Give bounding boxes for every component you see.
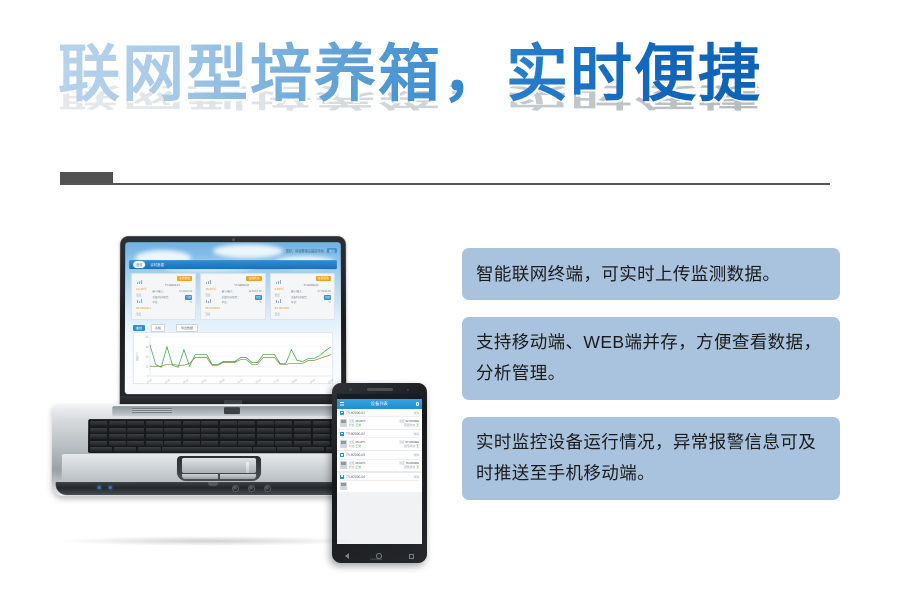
key-row (90, 428, 348, 433)
svg-text:40: 40 (146, 335, 149, 339)
key-row (90, 434, 348, 439)
logout-button[interactable]: 退出 (327, 248, 337, 253)
value-grid: 温度 25.10℃ 湿度 57.00%RH 状态 正常 报警状态 无 (349, 440, 419, 448)
hum-unit: %RH (213, 306, 220, 310)
svg-text:14:00: 14:00 (219, 378, 226, 384)
menu-icon[interactable] (340, 402, 344, 406)
temperature-icon (137, 280, 142, 284)
device-meta: TY-N2000-02 最小/最大：10.00/27.00 采集时间/报警：详情… (222, 283, 262, 306)
list-item[interactable]: TY-H2000-01 详情 温度 26.00℃ 湿度 52.00%RH 状态 … (337, 409, 422, 429)
feature-box-1: 智能联网终端，可实时上传监测数据。 (462, 248, 840, 300)
hum-unit: %RH (144, 306, 151, 310)
hum-number: 65.00 (205, 306, 213, 310)
title-block: 联网型培养箱，实时便捷 联网型培养箱，实时便捷 (0, 38, 900, 158)
device-meta: TY-N2000-01 最小/最大：10.00/20.00 采集时间/报警：详情… (152, 283, 192, 306)
status-badge: 在线状态 (316, 276, 331, 281)
svg-text:10:00: 10:00 (146, 378, 153, 384)
vent-grille (132, 408, 172, 413)
list-item[interactable]: TY-H2000-02 详情 温度 25.10℃ 湿度 57.00%RH 状态 … (337, 430, 422, 450)
nav-home-tab[interactable]: 首页 (133, 261, 145, 268)
alarm-label: 报警状态 (404, 423, 415, 427)
device-flag-icon (340, 453, 344, 457)
device-card[interactable]: 在线状态 15.50℃ 温度 65.00%RH 湿度 (200, 273, 265, 320)
status-badge: 在线状态 (246, 276, 261, 281)
device-id: TY-H2000-01 (346, 411, 411, 415)
temperature-label: 温度 (275, 293, 280, 297)
hum-unit: %RH (282, 306, 289, 310)
divider-block (60, 172, 113, 183)
device-flag-icon (340, 475, 344, 479)
audio-port[interactable] (232, 485, 239, 492)
meta-label: 单位： (152, 300, 160, 305)
device-id: TY-N2000-02 (222, 283, 262, 288)
phone-camera-icon (349, 388, 352, 391)
status-badge: 在线状态 (177, 276, 192, 281)
device-id: TY-N2000-01 (152, 283, 192, 288)
laptop-lid: 您好，欢迎登录云监控平台 退出 首页 实时数据 在线状态 (120, 236, 346, 408)
status-label: 状态 (349, 423, 355, 427)
meta-value: ℃ (259, 300, 262, 305)
device-meta: TY-N2000-03 最小/最大：07.00/25.00 采集时间/报警：详情… (291, 283, 331, 306)
trackpad-scroll-strip[interactable] (246, 462, 249, 473)
drop-shadow (60, 536, 360, 546)
temperature-label: 温度 (136, 293, 141, 297)
device-thumbnail-icon (340, 419, 347, 427)
svg-text:温度(℃): 温度(℃) (135, 352, 139, 361)
feature-list: 智能联网终端，可实时上传监测数据。 支持移动端、WEB端并存，方便查看数据，分析… (462, 248, 840, 517)
divider-line (60, 183, 830, 185)
trackpad-surface[interactable] (182, 458, 256, 473)
tab-table[interactable]: 表格 (151, 324, 165, 332)
recents-icon[interactable] (409, 554, 414, 559)
device-card-list: 在线状态 14.40℃ 温度 65.00%RH 湿度 (131, 273, 335, 320)
status-label: 状态 (349, 465, 355, 469)
key-row (90, 447, 348, 452)
detail-link[interactable]: 详情 (413, 453, 419, 457)
list-item[interactable]: TY-H2000-04 详情 (337, 473, 422, 493)
alarm-value: 无 (416, 423, 419, 427)
temperature-value: 15.50℃ (205, 285, 216, 292)
meta-label: 单位： (291, 300, 299, 305)
status-value: 正常 (355, 465, 361, 469)
svg-text:17:00: 17:00 (273, 378, 280, 384)
detail-link[interactable]: 详情 (413, 432, 419, 436)
account-label: 您好，欢迎登录云监控平台 (286, 248, 324, 253)
temperature-label: 温度 (205, 293, 210, 297)
svg-text:18:00: 18:00 (291, 378, 298, 384)
svg-text:20:00: 20:00 (328, 378, 335, 384)
phone-sensor-icon (407, 389, 409, 391)
meta-value: ℃ (328, 300, 331, 305)
humidity-icon (276, 299, 281, 303)
device-flag-icon (340, 432, 344, 436)
nav-realtime-tab[interactable]: 实时数据 (150, 262, 164, 267)
humidity-value: 65.00%RH (136, 304, 151, 311)
humidity-value: 65.00%RH (205, 304, 220, 311)
webcam-icon (232, 238, 235, 241)
search-icon[interactable] (416, 402, 420, 406)
app-header: 设备列表 (337, 399, 422, 409)
humidity-label: 湿度 (205, 312, 210, 316)
page-title: 联网型培养箱，实时便捷 (58, 38, 762, 112)
device-list: TY-H2000-01 详情 温度 26.00℃ 湿度 52.00%RH 状态 … (337, 409, 422, 492)
laptop-screen: 您好，欢迎登录云监控平台 退出 首页 实时数据 在线状态 (125, 242, 341, 394)
trackpad-right-button[interactable] (220, 474, 256, 479)
hum-number: 65.00 (136, 306, 144, 310)
keyboard[interactable] (88, 419, 350, 453)
list-item[interactable]: TY-H2000-03 详情 温度 26.00℃ 湿度 79.00%RH 状态 … (337, 451, 422, 471)
value-grid: 温度 26.00℃ 湿度 52.00%RH 状态 正常 报警状态 无 (349, 419, 419, 427)
temp-number: 15.50 (205, 287, 213, 291)
status-value: 正常 (355, 423, 361, 427)
svg-text:11:00: 11:00 (164, 378, 171, 384)
meta-value: ℃ (190, 300, 193, 305)
phone-screen: 设备列表 TY-H2000-01 详情 温度 26.00℃ (337, 394, 422, 544)
humidity-value: 81.00%RH (275, 304, 290, 311)
temperature-value: 9.80℃ (275, 285, 284, 292)
phone-speaker (367, 388, 393, 391)
humidity-icon (206, 299, 211, 303)
svg-text:19:00: 19:00 (309, 378, 316, 384)
svg-text:10: 10 (146, 364, 149, 368)
feature-box-3: 实时监控设备运行情况，异常报警信息可及时推送至手机移动端。 (462, 417, 840, 500)
temp-unit: ℃ (144, 287, 147, 291)
latch-notch (208, 482, 218, 486)
temperature-icon (276, 280, 281, 284)
device-card[interactable]: 在线状态 9.80℃ 温度 81.00%RH 湿度 (270, 273, 335, 320)
svg-text:20: 20 (146, 355, 149, 359)
svg-text:12:00: 12:00 (183, 378, 190, 384)
svg-text:0: 0 (147, 374, 149, 378)
front-edge (56, 482, 379, 495)
power-button[interactable] (224, 407, 240, 414)
alarm-value: 无 (416, 444, 419, 448)
temp-number: 14.40 (136, 287, 144, 291)
status-value: 正常 (355, 444, 361, 448)
temp-unit: ℃ (280, 287, 283, 291)
web-account-bar: 您好，欢迎登录云监控平台 退出 (286, 248, 337, 253)
humidity-icon (137, 299, 142, 303)
back-icon[interactable] (345, 553, 349, 559)
list-item-body: 温度 26.00℃ 湿度 52.00%RH 状态 正常 报警状态 无 (340, 417, 419, 427)
mic-port[interactable] (248, 485, 255, 492)
temperature-icon (206, 280, 211, 284)
list-item-body: 温度 25.10℃ 湿度 57.00%RH 状态 正常 报警状态 无 (340, 438, 419, 448)
alarm-label: 报警状态 (404, 444, 415, 448)
device-thumbnail-icon (340, 461, 347, 469)
humidity-label: 湿度 (136, 312, 141, 316)
trend-chart-svg: 403020100温度(℃)10:0011:0012:0013:0014:001… (134, 333, 334, 385)
feature-box-2: 支持移动端、WEB端并存，方便查看数据，分析管理。 (462, 317, 840, 400)
web-navbar: 首页 实时数据 (129, 260, 337, 269)
headphone-port[interactable] (264, 485, 271, 492)
promo-banner: 联网型培养箱，实时便捷 联网型培养箱，实时便捷 智能联网终端，可实时上传监测数据… (0, 0, 900, 606)
device-id: TY-N2000-03 (291, 283, 331, 288)
key-row (90, 441, 348, 446)
chart-view-tabs: 曲线 表格 导出数据 (133, 324, 198, 332)
device-flag-icon (340, 411, 344, 415)
trackpad-left-button[interactable] (182, 474, 218, 479)
value-grid: 温度 26.00℃ 湿度 79.00%RH 状态 正常 报警状态 无 (349, 461, 419, 469)
list-item-body: 温度 26.00℃ 湿度 79.00%RH 状态 正常 报警状态 无 (340, 460, 419, 470)
phone-brand: HUAWEI (371, 557, 383, 561)
svg-text:30: 30 (146, 345, 149, 349)
app-title: 设备列表 (371, 401, 388, 407)
device-thumbnail-icon (340, 440, 347, 448)
alarm-value: 无 (416, 465, 419, 469)
status-label: 状态 (349, 444, 355, 448)
laptop-screen-bezel: 您好，欢迎登录云监控平台 退出 首页 实时数据 在线状态 (125, 242, 341, 394)
humidity-label: 湿度 (275, 312, 280, 316)
device-id: TY-H2000-02 (346, 432, 411, 436)
divider (60, 172, 830, 186)
svg-text:16:00: 16:00 (255, 378, 262, 384)
svg-text:13:00: 13:00 (201, 378, 208, 384)
list-item-body (340, 481, 419, 491)
key-row (90, 421, 348, 426)
device-thumbnail-icon (340, 482, 347, 490)
svg-text:15:00: 15:00 (237, 378, 244, 384)
temperature-value: 14.40℃ (136, 285, 147, 292)
device-id: TY-H2000-03 (346, 453, 411, 457)
meta-label: 单位： (222, 300, 230, 305)
alarm-label: 报警状态 (404, 465, 415, 469)
battery-led (109, 486, 112, 489)
detail-link[interactable]: 详情 (413, 475, 419, 479)
temp-unit: ℃ (213, 287, 216, 291)
power-led (98, 486, 101, 489)
tab-curve[interactable]: 曲线 (133, 325, 145, 331)
cloud-decoration (213, 244, 283, 258)
detail-link[interactable]: 详情 (413, 411, 419, 415)
export-button[interactable]: 导出数据 (176, 324, 198, 332)
device-card[interactable]: 在线状态 14.40℃ 温度 65.00%RH 湿度 (131, 273, 196, 320)
device-id: TY-H2000-04 (346, 475, 411, 479)
trackpad[interactable] (177, 456, 261, 481)
trend-chart[interactable]: 403020100温度(℃)10:0011:0012:0013:0014:001… (133, 332, 333, 384)
